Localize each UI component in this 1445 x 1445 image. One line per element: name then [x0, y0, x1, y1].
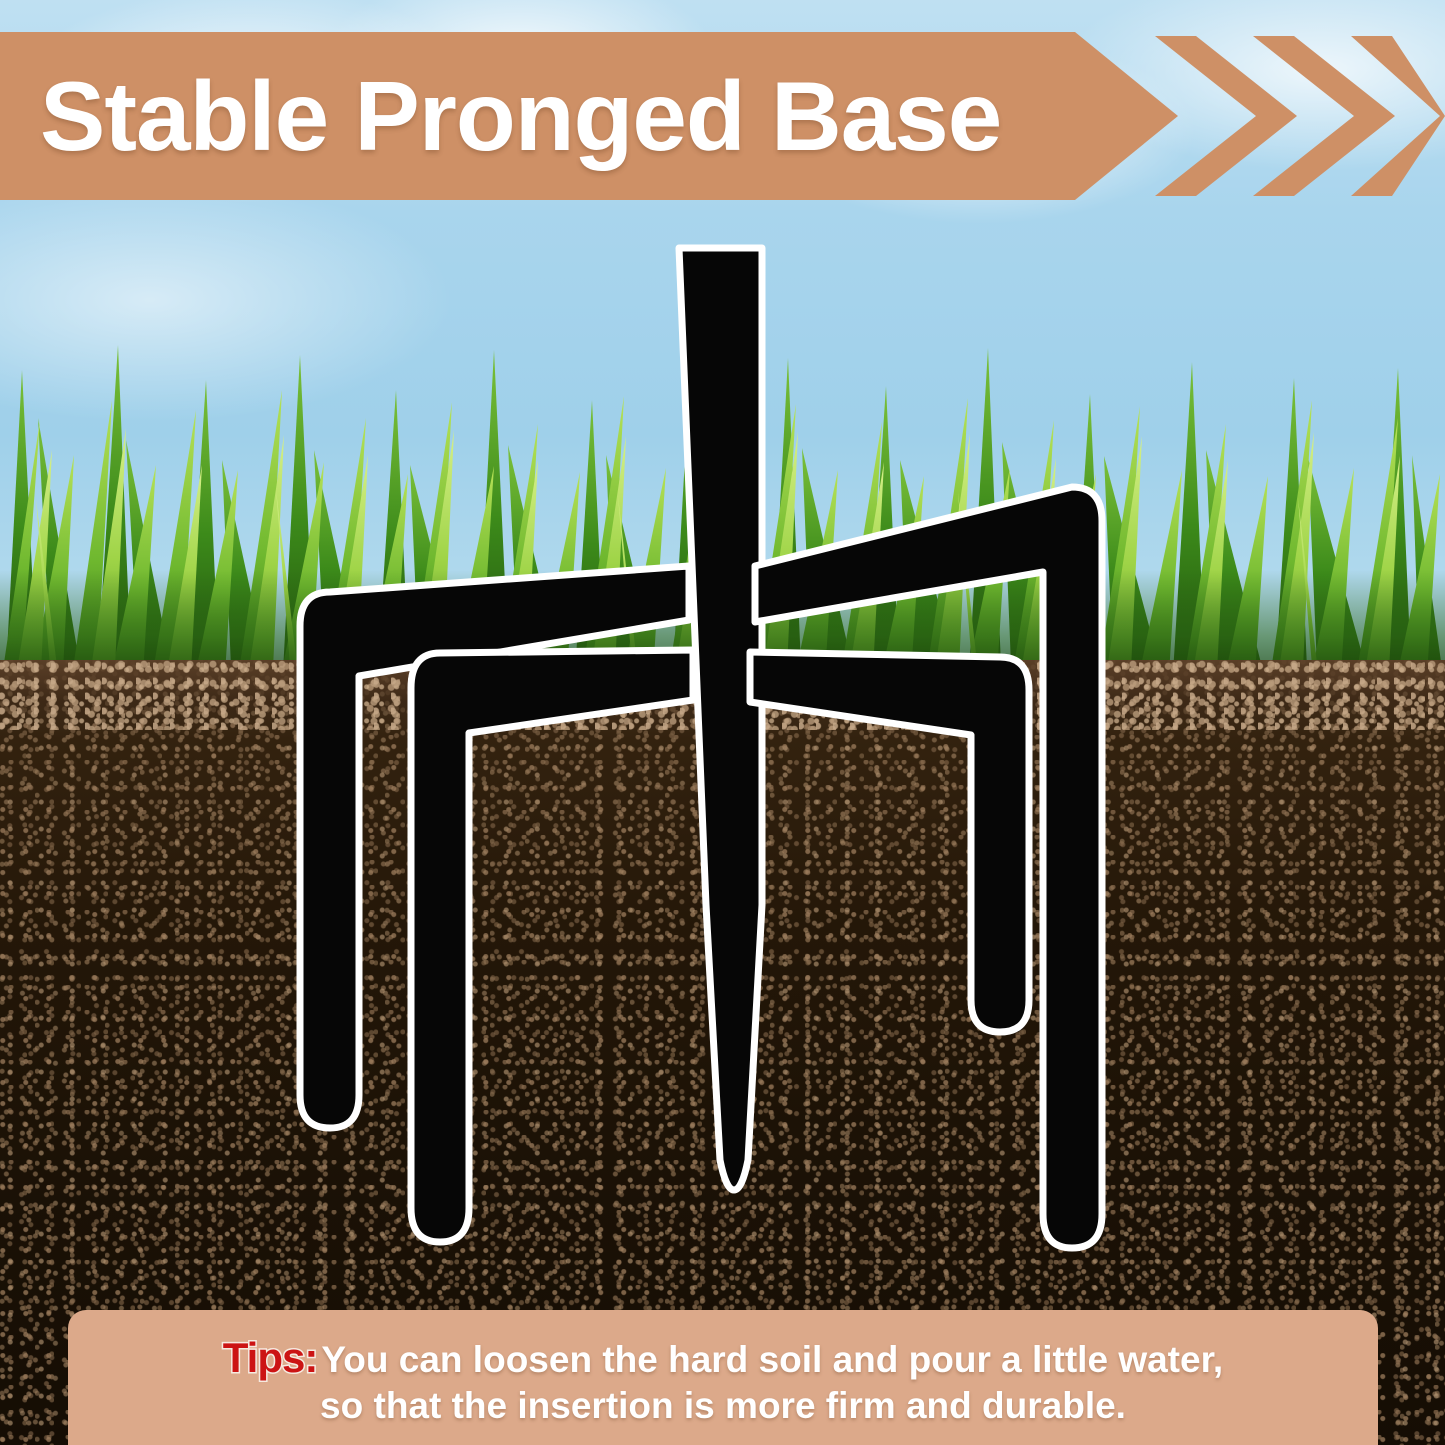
left-inner-arm-prong: [411, 650, 693, 1242]
tips-label: Tips:: [223, 1334, 318, 1381]
page-title: Stable Pronged Base: [40, 60, 1070, 172]
header-banner: Stable Pronged Base: [0, 32, 1445, 200]
center-post-and-spike: [679, 248, 762, 1190]
tips-line-2: so that the insertion is more firm and d…: [108, 1383, 1338, 1428]
tips-box: Tips:You can loosen the hard soil and po…: [68, 1310, 1378, 1445]
right-inner-arm-prong: [750, 652, 1029, 1032]
right-outer-arm-prong: [755, 487, 1102, 1248]
ground-stake-silhouette-icon: [0, 0, 1445, 1445]
product-infographic: Stable Pronged Base Tips:You can loosen …: [0, 0, 1445, 1445]
tips-line-1: Tips:You can loosen the hard soil and po…: [108, 1332, 1338, 1383]
tips-text-1: You can loosen the hard soil and pour a …: [321, 1339, 1223, 1380]
